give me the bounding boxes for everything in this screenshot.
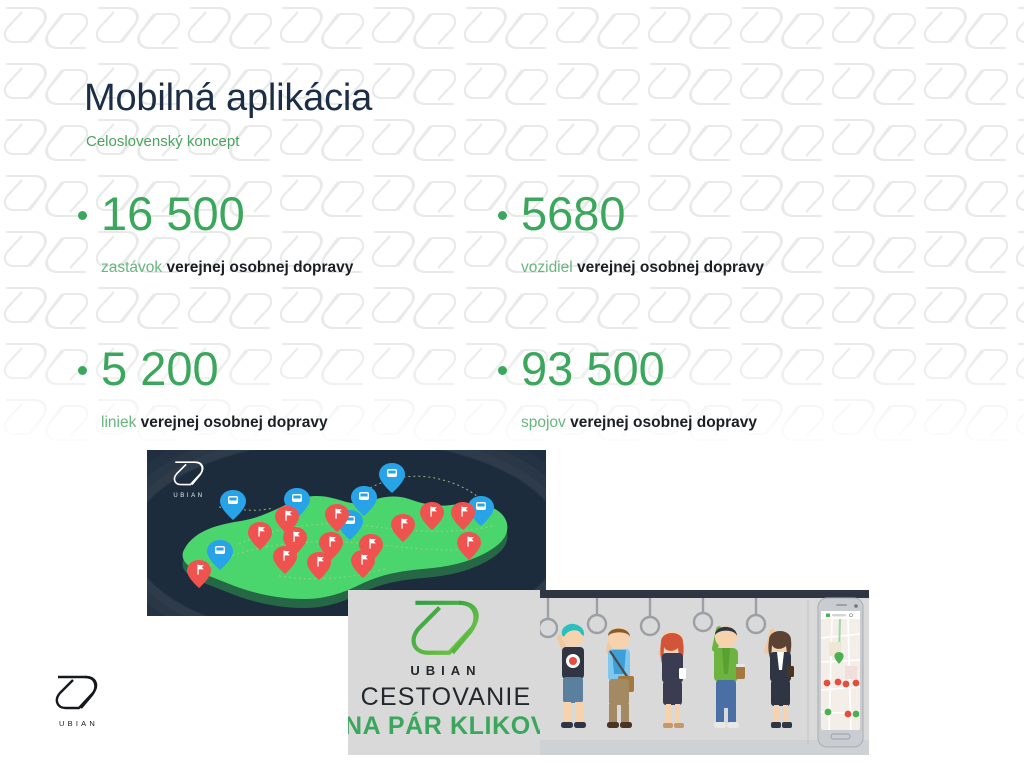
stat-value: 93 500 [521,345,665,392]
stat-label: vozidiel verejnej osobnej dopravy [521,259,918,277]
stat-value: 5680 [521,190,626,237]
banner-logo-wordmark: UBIAN [409,663,483,678]
dot-bullet-icon [78,211,87,220]
ubian-app-banner: UBIAN CESTOVANIE NA PÁR KLIKOV [348,590,869,755]
dot-bullet-icon [498,211,507,220]
footer-logo-wordmark: UBIAN [47,719,110,728]
stat-label: spojov verejnej osobnej dopravy [521,414,918,432]
banner-text-block: UBIAN CESTOVANIE NA PÁR KLIKOV [348,590,544,755]
stat-value-row: 5680 [498,184,918,242]
stat-label: zastávok verejnej osobnej dopravy [101,259,498,277]
stat-value-row: 5 200 [78,339,498,397]
stat-value-row: 93 500 [498,339,918,397]
ubian-leaf-mark-icon [409,598,483,656]
banner-headline-line1: CESTOVANIE [361,683,532,712]
stat-value: 16 500 [101,190,245,237]
stat-value: 5 200 [101,345,219,392]
stat-item-connections: 93 500 spojov verejnej osobnej dopravy [498,339,918,494]
stat-item-stops: 16 500 zastávok verejnej osobnej dopravy [78,184,498,339]
stat-item-vehicles: 5680 vozidiel verejnej osobnej dopravy [498,184,918,339]
banner-headline-line2: NA PÁR KLIKOV [348,712,548,741]
stat-label-rest: verejnej osobnej dopravy [573,259,764,276]
dot-bullet-icon [78,366,87,375]
footer-logo: UBIAN [44,674,110,728]
smartphone-map-screen [818,598,863,747]
dot-bullet-icon [498,366,507,375]
bus-passengers-illustration [540,590,869,755]
stat-label-lead: spojov [521,414,566,431]
ubian-leaf-mark-icon [55,674,99,710]
stat-label-rest: verejnej osobnej dopravy [566,414,757,431]
stat-label-rest: verejnej osobnej dopravy [136,414,327,431]
banner-logo: UBIAN [409,598,483,678]
stat-label-lead: vozidiel [521,259,573,276]
page-title: Mobilná aplikácia [84,79,372,119]
stat-label-lead: zastávok [101,259,162,276]
stat-label: liniek verejnej osobnej dopravy [101,414,498,432]
stat-label-lead: liniek [101,414,136,431]
slide-header: Mobilná aplikácia Celoslovenský koncept [84,79,372,150]
page-subtitle: Celoslovenský koncept [86,133,372,150]
statistics-grid: 16 500 zastávok verejnej osobnej dopravy… [78,184,958,494]
stat-label-rest: verejnej osobnej dopravy [162,259,353,276]
stat-value-row: 16 500 [78,184,498,242]
presentation-slide: Mobilná aplikácia Celoslovenský koncept … [0,0,1024,768]
